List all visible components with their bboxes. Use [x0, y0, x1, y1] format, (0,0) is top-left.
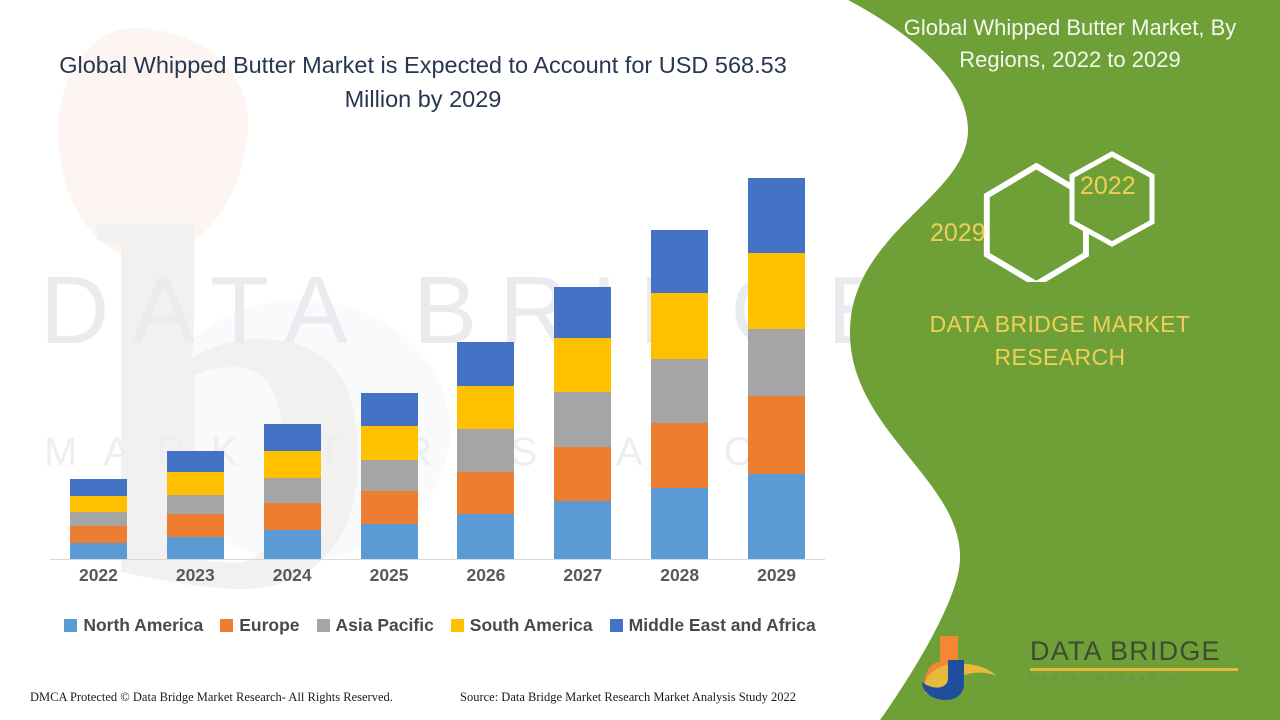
x-axis-label-2029: 2029	[728, 565, 825, 586]
x-axis-label-2027: 2027	[534, 565, 631, 586]
brand-panel: Global Whipped Butter Market, By Regions…	[840, 0, 1280, 720]
x-axis-labels: 20222023202420252026202720282029	[50, 565, 825, 586]
logo-subtitle: MARKET RESEARCH	[1030, 674, 1238, 684]
bar-slot	[631, 150, 728, 559]
bar-segment[interactable]	[554, 287, 611, 338]
bar-segment[interactable]	[70, 479, 127, 495]
bar-segment[interactable]	[457, 429, 514, 472]
bar-segment[interactable]	[167, 537, 224, 559]
bar-segment[interactable]	[361, 393, 418, 426]
legend-label: Middle East and Africa	[629, 615, 816, 636]
bar-segment[interactable]	[748, 396, 805, 474]
bar-segment[interactable]	[361, 426, 418, 460]
legend-swatch-icon	[64, 619, 77, 632]
stacked-bar-2026[interactable]	[457, 342, 514, 559]
bar-segment[interactable]	[264, 530, 321, 559]
hexagon-svg: 2029 2022	[840, 132, 1280, 282]
bar-segment[interactable]	[651, 230, 708, 293]
bar-segment[interactable]	[748, 178, 805, 254]
legend-swatch-icon	[451, 619, 464, 632]
x-axis-label-2025: 2025	[341, 565, 438, 586]
legend-label: South America	[470, 615, 593, 636]
x-axis-line	[50, 559, 825, 560]
chart-legend: North AmericaEuropeAsia PacificSouth Ame…	[50, 615, 830, 636]
bar-segment[interactable]	[457, 386, 514, 429]
bar-segment[interactable]	[70, 543, 127, 559]
bar-segment[interactable]	[70, 512, 127, 526]
hexagon-2022-label: 2022	[1080, 172, 1136, 200]
stacked-bar-2024[interactable]	[264, 424, 321, 559]
stacked-bar-2027[interactable]	[554, 287, 611, 559]
bar-segment[interactable]	[554, 392, 611, 446]
legend-item[interactable]: North America	[64, 615, 203, 636]
panel-title: Global Whipped Butter Market, By Regions…	[870, 12, 1270, 76]
stacked-bar-2025[interactable]	[361, 393, 418, 559]
bar-slot	[50, 150, 147, 559]
bar-segment[interactable]	[167, 514, 224, 536]
bar-segment[interactable]	[748, 329, 805, 396]
bar-slot	[147, 150, 244, 559]
legend-label: North America	[83, 615, 203, 636]
bar-segment[interactable]	[457, 342, 514, 386]
bar-segment[interactable]	[70, 526, 127, 542]
bar-segment[interactable]	[554, 447, 611, 501]
footer-copyright: DMCA Protected © Data Bridge Market Rese…	[30, 690, 393, 705]
bar-segment[interactable]	[167, 495, 224, 514]
logo-divider	[1030, 668, 1238, 671]
bar-segment[interactable]	[264, 424, 321, 451]
bar-segment[interactable]	[361, 491, 418, 525]
panel-brand-name: DATA BRIDGE MARKET RESEARCH	[880, 308, 1240, 375]
logo-text-block: DATA BRIDGE MARKET RESEARCH	[1030, 636, 1238, 684]
legend-item[interactable]: Middle East and Africa	[610, 615, 816, 636]
bar-group	[50, 150, 825, 559]
logo-title: DATA BRIDGE	[1030, 636, 1238, 667]
hexagon-badges: 2029 2022	[840, 132, 1280, 282]
bar-segment[interactable]	[264, 478, 321, 503]
legend-label: Europe	[239, 615, 299, 636]
bar-segment[interactable]	[264, 503, 321, 531]
data-bridge-logo-icon	[918, 632, 1022, 702]
bar-segment[interactable]	[651, 488, 708, 559]
bar-segment[interactable]	[167, 472, 224, 494]
x-axis-label-2028: 2028	[631, 565, 728, 586]
chart-title: Global Whipped Butter Market is Expected…	[38, 48, 808, 116]
bar-segment[interactable]	[748, 253, 805, 329]
bar-segment[interactable]	[457, 514, 514, 559]
bar-slot	[728, 150, 825, 559]
legend-swatch-icon	[317, 619, 330, 632]
bar-segment[interactable]	[167, 451, 224, 472]
x-axis-label-2023: 2023	[147, 565, 244, 586]
bar-segment[interactable]	[554, 501, 611, 559]
chart-plot-area	[50, 150, 825, 560]
bar-segment[interactable]	[361, 460, 418, 491]
bar-segment[interactable]	[264, 451, 321, 479]
legend-item[interactable]: Europe	[220, 615, 299, 636]
bar-slot	[438, 150, 535, 559]
bar-slot	[341, 150, 438, 559]
stacked-bar-2023[interactable]	[167, 451, 224, 559]
footer-bar: DMCA Protected © Data Bridge Market Rese…	[0, 680, 848, 720]
legend-swatch-icon	[610, 619, 623, 632]
x-axis-label-2024: 2024	[244, 565, 341, 586]
bar-segment[interactable]	[748, 474, 805, 559]
bar-segment[interactable]	[70, 496, 127, 512]
legend-item[interactable]: South America	[451, 615, 593, 636]
bar-segment[interactable]	[361, 524, 418, 559]
bar-slot	[244, 150, 341, 559]
legend-label: Asia Pacific	[336, 615, 434, 636]
infographic-canvas: b DATA BRIDGE MARKET RESEARCH Global Whi…	[0, 0, 1280, 720]
legend-item[interactable]: Asia Pacific	[317, 615, 434, 636]
hexagon-2029-label: 2029	[930, 219, 986, 247]
stacked-bar-2022[interactable]	[70, 479, 127, 559]
bar-segment[interactable]	[457, 472, 514, 514]
x-axis-label-2022: 2022	[50, 565, 147, 586]
bar-segment[interactable]	[651, 359, 708, 423]
stacked-bar-2029[interactable]	[748, 178, 805, 559]
bar-segment[interactable]	[651, 423, 708, 488]
bar-segment[interactable]	[554, 338, 611, 392]
data-bridge-logo: DATA BRIDGE MARKET RESEARCH	[918, 632, 1258, 704]
x-axis-label-2026: 2026	[438, 565, 535, 586]
bar-slot	[534, 150, 631, 559]
legend-swatch-icon	[220, 619, 233, 632]
footer-source: Source: Data Bridge Market Research Mark…	[460, 690, 796, 705]
bar-segment[interactable]	[651, 293, 708, 358]
stacked-bar-2028[interactable]	[651, 230, 708, 559]
